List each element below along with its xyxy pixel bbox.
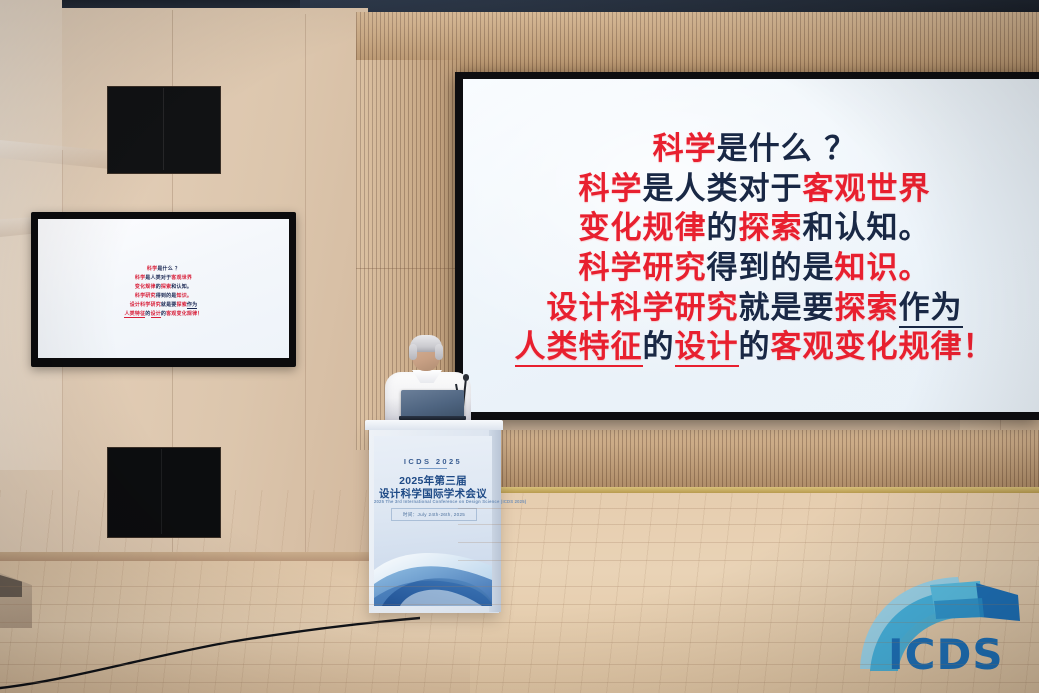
slide-text-segment: 客观世界	[171, 275, 192, 281]
slide-text-segment: 设计	[675, 329, 739, 367]
slide-text-segment: 客观世界	[803, 171, 931, 207]
slide-text-segment: 是什么 ？	[717, 131, 857, 167]
slide-text-segment: 就是要	[161, 302, 177, 308]
podium-date-text: 时间：July 24th-26th, 2025	[403, 512, 465, 518]
slide-text-segment: 是人类对于	[145, 275, 171, 281]
slide-text-segment: 变化规律	[135, 284, 156, 290]
slide-text-segment: 和认知。	[803, 210, 931, 246]
floor-plank-seam	[0, 664, 1039, 665]
panel-seam	[163, 88, 164, 170]
floor-plank-seam	[458, 524, 1039, 525]
slide-line: 变化规律的探索和认知。	[579, 210, 931, 247]
slide-line: 科学是人类对于客观世界	[38, 274, 289, 281]
floor-plank-seam	[458, 508, 1039, 509]
slide-line: 科学研究得到的是知识。	[579, 250, 931, 287]
slide-text-segment: 探索	[835, 290, 899, 326]
podium-wave-graphic	[374, 540, 492, 606]
laptop-screen[interactable]	[401, 390, 464, 418]
slide-line: 变化规律的探索和认知。	[38, 283, 289, 290]
slide-text-segment: 的	[643, 329, 675, 365]
floor-plank-seam	[458, 542, 1039, 543]
slide-text-segment: 客观变化规律！	[166, 311, 202, 317]
slide-text-segment: 科学	[147, 266, 157, 272]
wainscot-shading	[458, 430, 1039, 490]
slide-line: 科学研究得到的是知识。	[38, 292, 289, 299]
slide-text-segment: 变化规律	[579, 210, 707, 246]
wall-speaker-panel-lower	[107, 447, 221, 538]
icds-wordmark: ICDS	[888, 630, 1038, 679]
slide-line: 人类特征的设计的客观变化规律！	[515, 329, 995, 366]
wall-speaker-panel-upper	[107, 86, 221, 174]
slide-text-segment: 的	[707, 210, 739, 246]
slide-text-segment: 设计科学研究	[547, 290, 739, 326]
slide-line: 科学是人类对于客观世界	[579, 171, 931, 208]
floor-plank-seam	[458, 560, 1039, 561]
slide-text-segment: 客观变化规律！	[771, 329, 995, 365]
podium-divider	[419, 468, 447, 469]
floor-plank-seam	[0, 586, 1039, 587]
slide-text-segment: 得到的是	[707, 250, 835, 286]
slide-text-segment: 科学	[579, 171, 643, 207]
power-cable	[0, 560, 420, 693]
floor-plank-seam	[0, 604, 1039, 605]
podium-subtitle-en: 2025 The 3rd International Conference on…	[374, 499, 492, 504]
slide-line: 科学是什么 ？	[38, 265, 289, 272]
floor-plank-seam	[0, 682, 1039, 683]
slide-text-segment: 是人类对于	[643, 171, 803, 207]
speaker-hair-side	[435, 344, 443, 360]
slide-line: 人类特征的设计的客观变化规律！	[38, 310, 289, 317]
podium-top-surface	[365, 420, 503, 430]
slide-text-segment: 和认知。	[171, 284, 192, 290]
podium-date-badge: 时间：July 24th-26th, 2025	[391, 508, 477, 521]
slide-text-segment: 知识。	[177, 293, 193, 299]
wall-seam	[356, 268, 460, 269]
slide-text-segment: 人类特征	[124, 311, 145, 318]
slide-text-segment: 设计科学研究	[130, 302, 161, 308]
slide-text-segment: 人类特征	[515, 329, 643, 367]
slide-line: 科学是什么 ？	[653, 131, 857, 168]
slide-text-segment: 科学研究	[135, 293, 156, 299]
microphone-icon	[463, 374, 469, 381]
slide-text-segment: 探索	[739, 210, 803, 246]
floor-plank-seam	[0, 622, 1039, 623]
slide-text-segment: 探索	[161, 284, 171, 290]
lecture-hall-photo: 科学是什么 ？科学是人类对于客观世界变化规律的探索和认知。科学研究得到的是知识。…	[0, 0, 1039, 693]
side-monitor-slide-text: 科学是什么 ？科学是人类对于客观世界变化规律的探索和认知。科学研究得到的是知识。…	[38, 228, 289, 353]
slide-text-segment: 知识。	[835, 250, 931, 286]
slide-text-segment: 设计	[151, 311, 161, 318]
panel-seam	[161, 449, 162, 534]
slide-text-segment: 作为	[187, 302, 197, 309]
slide-text-segment: 科学	[135, 275, 145, 281]
floor-plank-seam	[0, 642, 1039, 643]
podium-eyebrow: ICDS 2025	[374, 457, 492, 466]
slide-text-segment: 是什么 ？	[157, 266, 180, 272]
slide-text: 科学是什么 ？科学是人类对于客观世界变化规律的探索和认知。科学研究得到的是知识。…	[470, 96, 1039, 401]
slide-text-segment: 得到的是	[156, 293, 177, 299]
slide-text-segment: 的	[145, 311, 150, 317]
slide-line: 设计科学研究就是要探索作为	[547, 290, 963, 327]
slide-text-segment: 作为	[899, 290, 963, 328]
slide-line: 设计科学研究就是要探索作为	[38, 301, 289, 308]
slide-text-segment: 的	[739, 329, 771, 365]
slide-text-segment: 科学研究	[579, 250, 707, 286]
brass-floor-trim	[458, 487, 1039, 493]
speaker-hair-side	[409, 344, 417, 360]
slide-text-segment: 就是要	[739, 290, 835, 326]
slide-text-segment: 探索	[177, 302, 187, 308]
slide-text-segment: 科学	[653, 131, 717, 167]
